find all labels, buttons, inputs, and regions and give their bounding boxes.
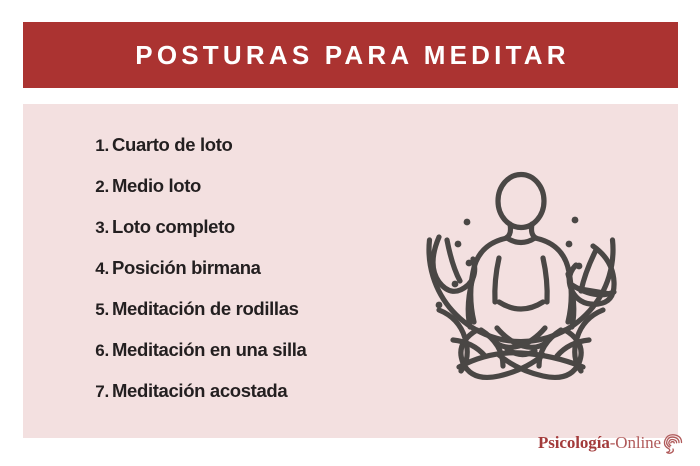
list-item: 3. Loto completo [83,216,413,257]
brand-name-rest: -Online [610,433,661,452]
list-item-label: Cuarto de loto [112,134,232,156]
decorative-dot [576,263,583,270]
meditation-lotus-pose-illustration [415,162,627,384]
list-item-number: 1. [83,136,109,156]
list-item-label: Posición birmana [112,257,261,279]
brand-name: Psicología-Online [538,433,661,453]
decorative-dot [436,302,443,309]
list-item: 4. Posición birmana [83,257,413,298]
decorative-dot [464,219,471,226]
list-item-number: 2. [83,177,109,197]
infographic-canvas: POSTURAS PARA MEDITAR 1. Cuarto de loto … [0,0,700,466]
content-panel: 1. Cuarto de loto 2. Medio loto 3. Loto … [23,104,678,438]
posture-list: 1. Cuarto de loto 2. Medio loto 3. Loto … [83,134,413,421]
list-item: 7. Meditación acostada [83,380,413,421]
list-item: 2. Medio loto [83,175,413,216]
list-item-number: 7. [83,382,109,402]
brand-logo: Psicología-Online [538,431,684,455]
decorative-dot [455,241,462,248]
list-item-number: 3. [83,218,109,238]
list-item-label: Meditación acostada [112,380,287,402]
decorative-dot [452,281,459,288]
list-item: 1. Cuarto de loto [83,134,413,175]
page-title: POSTURAS PARA MEDITAR [131,42,569,68]
list-item-number: 5. [83,300,109,320]
list-item-label: Meditación de rodillas [112,298,299,320]
list-item: 5. Meditación de rodillas [83,298,413,339]
brand-name-bold: Psicología [538,433,610,452]
header-banner: POSTURAS PARA MEDITAR [23,22,678,88]
list-item-number: 6. [83,341,109,361]
list-item-label: Medio loto [112,175,201,197]
decorative-dot [572,217,579,224]
list-item-label: Loto completo [112,216,235,238]
decorative-dot [566,241,573,248]
decorative-dot [466,260,473,267]
list-item-number: 4. [83,259,109,279]
list-item-label: Meditación en una silla [112,339,306,361]
brain-fingerprint-icon [662,432,684,454]
list-item: 6. Meditación en una silla [83,339,413,380]
